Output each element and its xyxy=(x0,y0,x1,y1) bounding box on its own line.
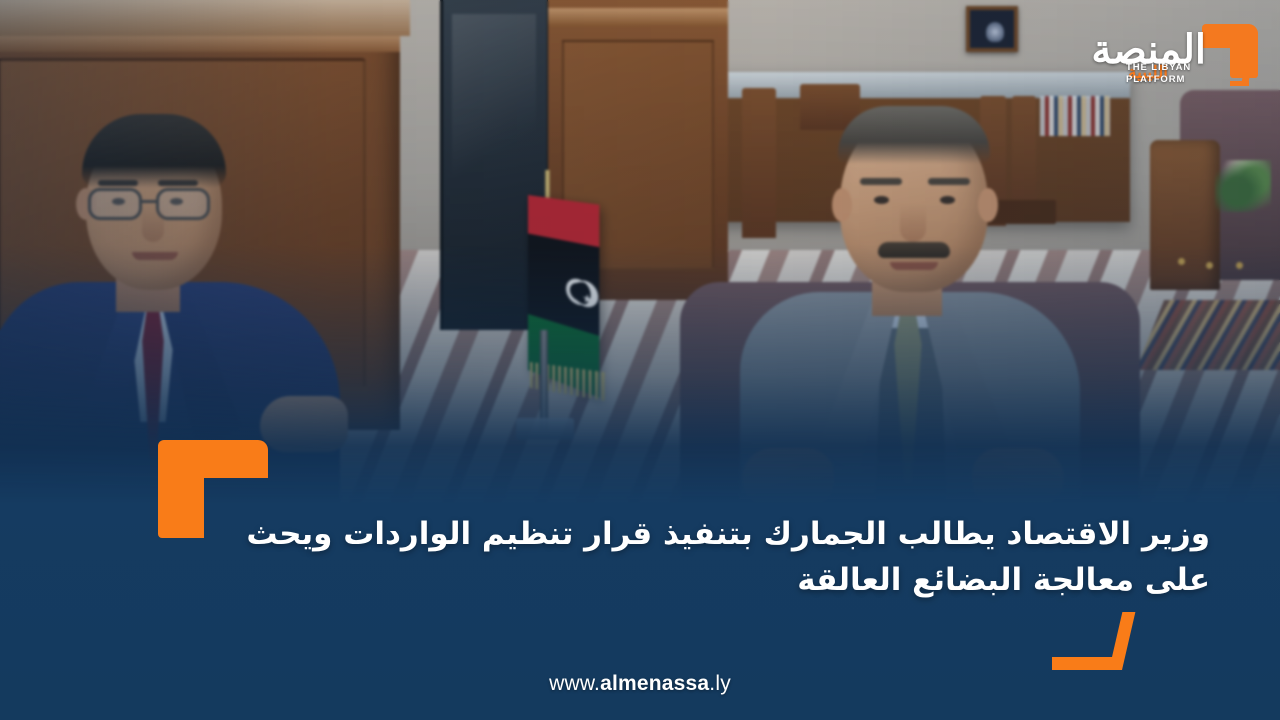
website-url[interactable]: www.almenassa.ly xyxy=(0,672,1280,696)
social-media-news-card: ★ xyxy=(0,0,1280,720)
url-brand: almenassa xyxy=(600,672,709,695)
headline-line-1: وزير الاقتصاد يطالب الجمارك بتنفيذ قرار … xyxy=(210,512,1210,558)
logo-english-name: THE LIBYAN PLATFORM xyxy=(1126,62,1210,86)
url-prefix: www. xyxy=(549,672,600,695)
logo-tail-icon xyxy=(1230,74,1256,86)
quote-close-bracket-icon xyxy=(1052,612,1122,670)
url-suffix: .ly xyxy=(709,672,731,695)
brand-logo[interactable]: المنصة الليبية THE LIBYAN PLATFORM xyxy=(1064,14,1264,90)
headline-text: وزير الاقتصاد يطالب الجمارك بتنفيذ قرار … xyxy=(210,512,1210,604)
logo-bracket-icon xyxy=(1202,24,1258,78)
headline-line-2: على معالجة البضائع العالقة xyxy=(210,558,1210,604)
